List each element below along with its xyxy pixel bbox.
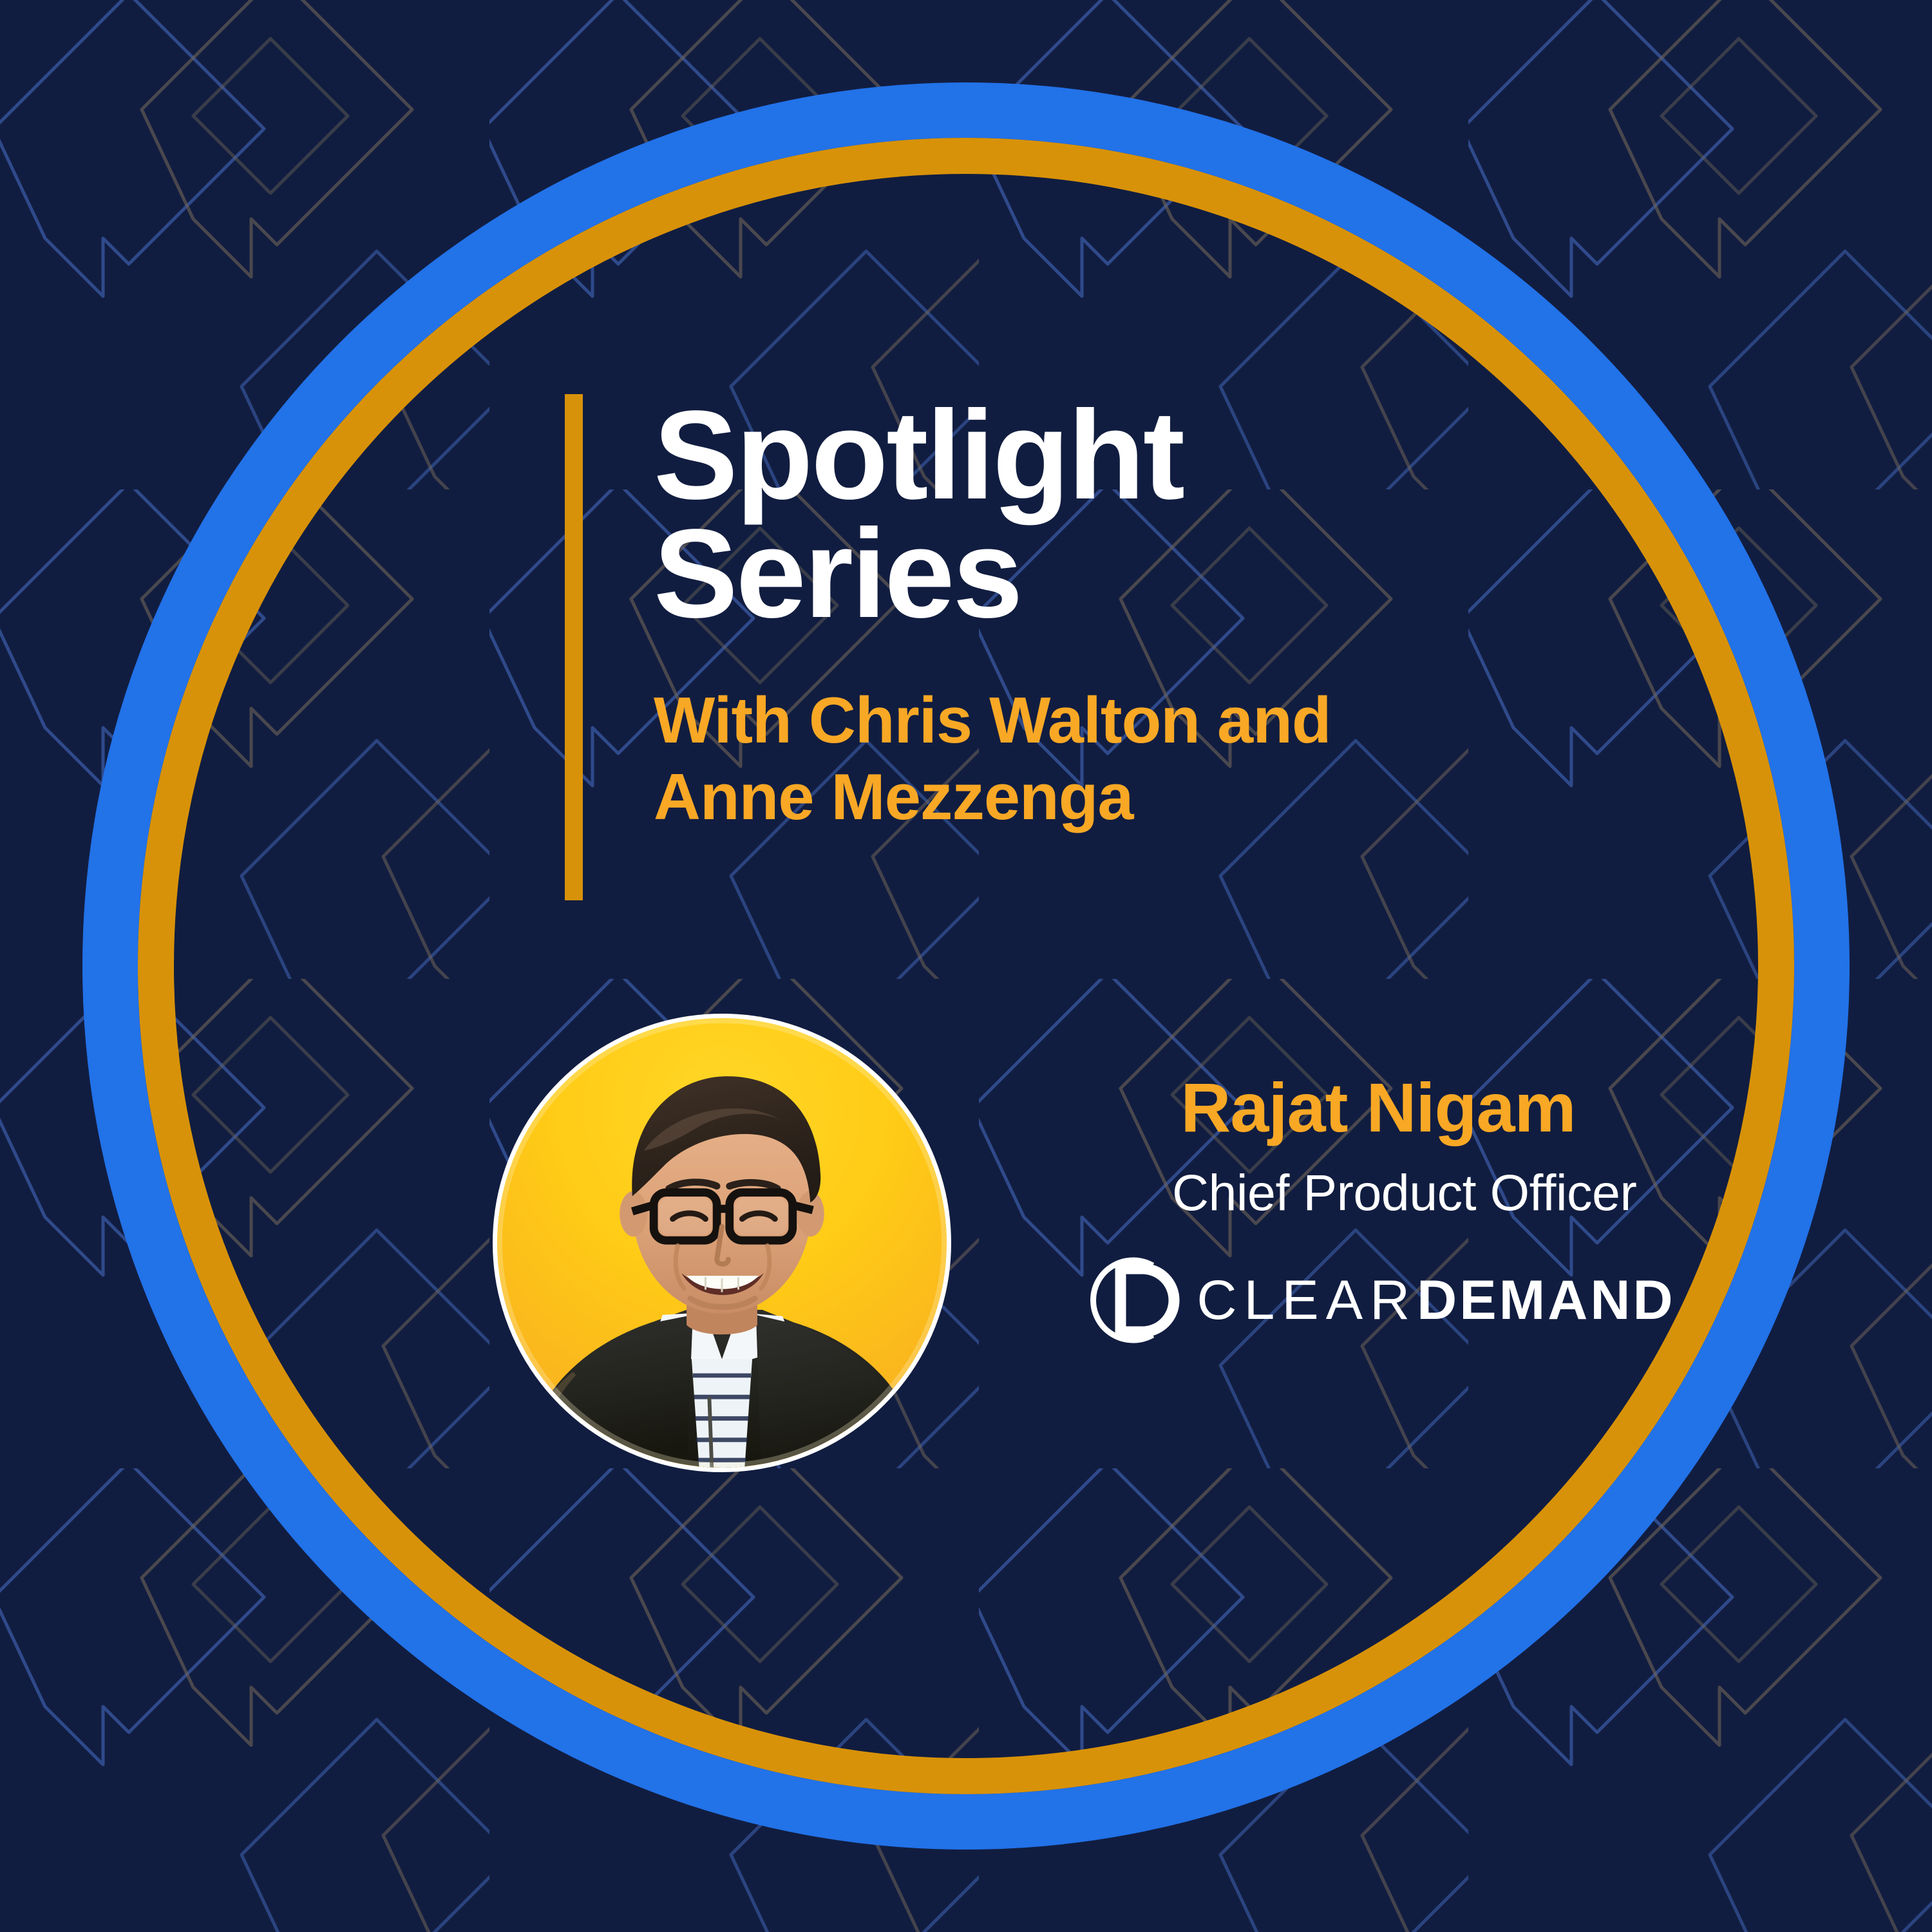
brand-word-clear: CLEAR xyxy=(1197,1269,1417,1332)
speaker-info: Rajat Nigam Chief Product Officer CLEARD… xyxy=(1172,1073,1584,1352)
series-title-line-1: Spotlight xyxy=(654,394,1331,516)
promo-poster: Spotlight Series With Chris Walton and A… xyxy=(0,0,1932,1932)
brand-wordmark: CLEARDEMAND xyxy=(1197,1269,1675,1332)
brand-logo: CLEARDEMAND xyxy=(1172,1249,1584,1352)
speaker-avatar xyxy=(493,1014,951,1472)
speaker-name: Rajat Nigam xyxy=(1172,1073,1584,1142)
speaker-role: Chief Product Officer xyxy=(1172,1167,1584,1218)
title-accent-bar xyxy=(565,394,583,900)
subtitle-line-1: With Chris Walton and xyxy=(654,683,1331,759)
cd-monogram-icon xyxy=(1081,1251,1180,1350)
title-block: Spotlight Series With Chris Walton and A… xyxy=(565,394,1531,900)
speaker-photo xyxy=(497,1018,947,1468)
series-title-line-2: Series xyxy=(654,513,1331,635)
speaker-row: Rajat Nigam Chief Product Officer CLEARD… xyxy=(493,1014,1587,1477)
subtitle-line-2: Anne Mezzenga xyxy=(654,759,1331,836)
title-texts: Spotlight Series With Chris Walton and A… xyxy=(654,394,1331,837)
poster-content: Spotlight Series With Chris Walton and A… xyxy=(0,0,1932,1932)
brand-word-demand: DEMAND xyxy=(1417,1269,1675,1332)
subtitle-wrap: With Chris Walton and Anne Mezzenga xyxy=(654,683,1331,836)
